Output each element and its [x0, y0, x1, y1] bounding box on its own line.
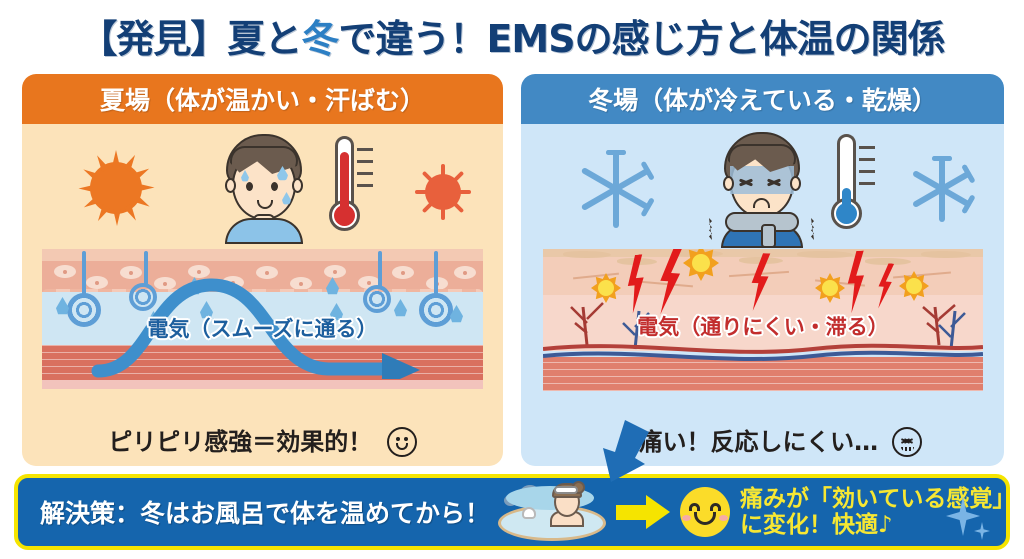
thermometer-ticks — [357, 148, 373, 196]
eye-squeezed-left — [739, 176, 753, 188]
skin-layer-surface — [42, 249, 483, 261]
thermometer-bulb-fill — [836, 203, 857, 224]
solution-text: 解決策：冬はお風呂で体を温めてから！ — [40, 494, 490, 530]
infographic-root: 【発見】夏と冬で違う！EMSの感じ方と体温の関係 夏場（体が温かい・汗ばむ） — [0, 0, 1024, 559]
ear-right — [790, 176, 801, 191]
bath-duck-icon — [522, 507, 536, 519]
winter-panel: 冬場（体が冷えている・乾燥） — [521, 74, 1004, 466]
summer-caption: ピリピリ感強＝効果的！ — [22, 422, 503, 457]
title-accent-winter: 冬 — [301, 17, 338, 61]
summer-skin-diagram: 電気（スムーズに通る） — [22, 249, 503, 401]
yellow-smiley-icon — [680, 487, 730, 537]
eye-squeezed-right — [767, 176, 781, 188]
eye-left — [246, 182, 253, 191]
solution-banner: 解決策：冬はお風呂で体を温めてから！ 痛みが「効いている感覚」 に変化！快適♪ — [14, 474, 1010, 550]
ear-left — [723, 176, 734, 191]
sweating-face-icon — [219, 134, 309, 242]
scarf-tail — [761, 224, 776, 248]
thermometer-cold-icon — [827, 134, 885, 239]
snowflake-icon — [573, 146, 659, 232]
snowflake-icon — [905, 152, 979, 226]
winter-electric-label: 電気（通りにくい・滞る） — [543, 311, 983, 341]
summer-header-label: 夏場（体が温かい・汗ばむ） — [100, 81, 425, 117]
winter-caption: 痛い！反応しにくい… — [521, 422, 1004, 457]
summer-electric-label: 電気（スムーズに通る） — [42, 313, 483, 343]
winter-panel-header: 冬場（体が冷えている・乾燥） — [521, 74, 1004, 124]
result-text: 痛みが「効いている感覚」 に変化！快適♪ — [740, 486, 1010, 538]
summer-panel-header: 夏場（体が温かい・汗ばむ） — [22, 74, 503, 124]
shiver-mark-icon — [811, 218, 815, 240]
ear-right — [292, 178, 303, 193]
winter-header-label: 冬場（体が冷えている・乾燥） — [588, 81, 937, 117]
ear-left — [225, 178, 236, 193]
eye-right — [271, 182, 278, 191]
summer-icon-row — [22, 124, 503, 249]
winter-skin-diagram: 電気（通りにくい・滞る） — [521, 249, 1004, 401]
winter-caption-text: 痛い！反応しにくい… — [639, 428, 879, 456]
shirt — [225, 218, 303, 244]
head-towel-icon — [554, 486, 578, 494]
page-title: 【発見】夏と冬で違う！EMSの感じ方と体温の関係 — [0, 4, 1024, 66]
cold-shivering-face-icon — [717, 132, 807, 240]
thermometer-ticks — [859, 146, 875, 194]
small-sun-icon — [407, 156, 479, 228]
mouth-frown — [753, 198, 770, 208]
thermometer-hot-icon — [325, 136, 383, 241]
sun-icon — [70, 142, 162, 234]
shiver-mark-icon — [709, 218, 713, 240]
smiling-face-icon — [387, 427, 417, 457]
pained-face-icon — [892, 427, 922, 457]
result-line-1: 痛みが「効いている感覚」 — [740, 486, 1010, 512]
yellow-right-arrow-icon — [616, 495, 672, 529]
summer-panel: 夏場（体が温かい・汗ばむ） — [22, 74, 503, 466]
thermometer-bulb-fill — [334, 205, 355, 226]
skin-layer-base — [42, 380, 483, 389]
skin-cross-section: 電気（スムーズに通る） — [42, 249, 483, 389]
title-part1: 【発見】夏と — [79, 17, 301, 61]
summer-caption-text: ピリピリ感強＝効果的！ — [108, 428, 372, 456]
skin-cross-section: 電気（通りにくい・滞る） — [543, 249, 983, 394]
bathtub-icon — [498, 481, 610, 543]
title-part2: で違う！EMSの感じ方と体温の関係 — [338, 17, 944, 61]
down-arrow-icon — [595, 420, 649, 482]
winter-icon-row — [521, 124, 1004, 249]
title-text: 【発見】夏と冬で違う！EMSの感じ方と体温の関係 — [79, 8, 944, 63]
